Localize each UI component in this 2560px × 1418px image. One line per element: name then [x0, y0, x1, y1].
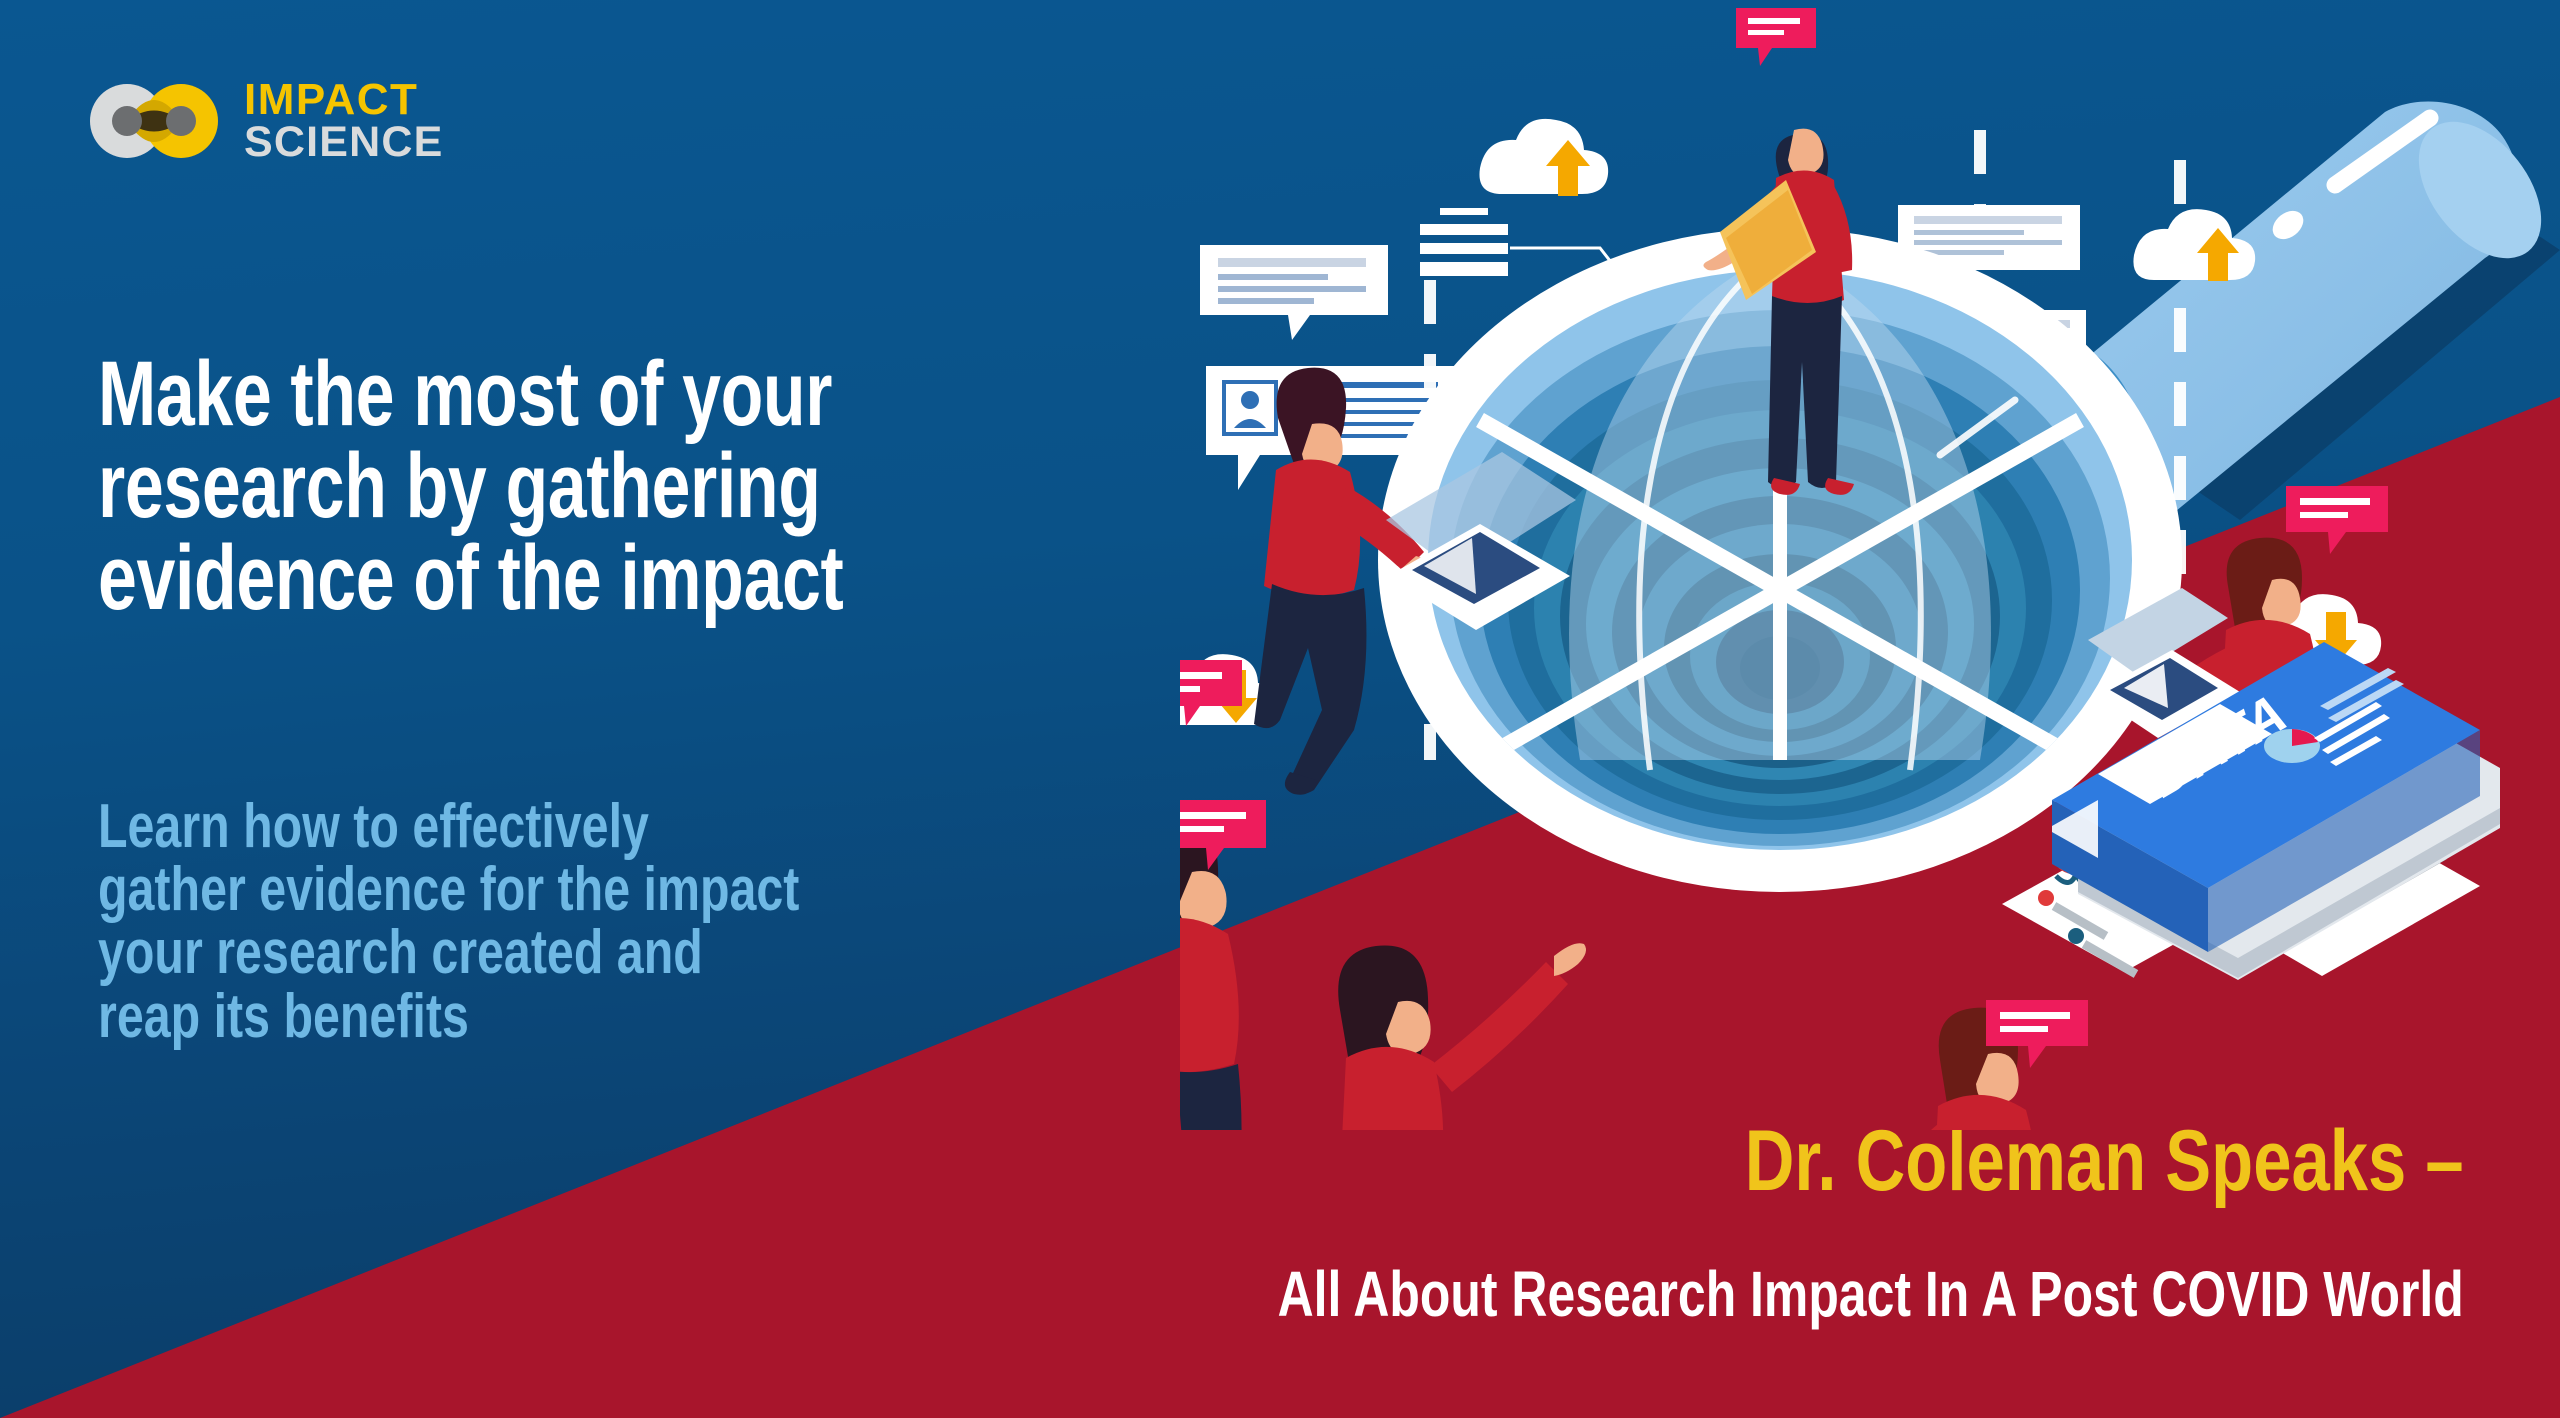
brand-logo[interactable]: IMPACT SCIENCE: [90, 75, 444, 167]
headline-line-1: Make the most of your: [98, 348, 904, 440]
subheadline-line-1: Learn how to effectively: [98, 795, 925, 858]
subheadline-line-4: reap its benefits: [98, 985, 925, 1048]
headline-line-3: evidence of the impact: [98, 532, 904, 624]
speaker-title: Dr. Coleman Speaks –: [1745, 1118, 2464, 1204]
brand-wordmark: IMPACT SCIENCE: [244, 78, 444, 163]
hero-illustration: DATA: [1180, 0, 2560, 1130]
speech-bubble-icon: [1200, 245, 1388, 340]
brand-name-impact: IMPACT: [244, 78, 444, 121]
cloud-upload-icon: [2133, 209, 2255, 281]
person-pointing-icon: [1338, 943, 1586, 1130]
infinity-loop-icon: [90, 75, 218, 167]
speech-bubble-icon: [2286, 486, 2388, 554]
subheadline-line-2: gather evidence for the impact: [98, 858, 925, 921]
brand-name-science: SCIENCE: [244, 121, 444, 163]
promo-banner: IMPACT SCIENCE Make the most of your res…: [0, 0, 2560, 1418]
subheadline: Learn how to effectively gather evidence…: [98, 795, 925, 1048]
headline: Make the most of your research by gather…: [98, 348, 904, 624]
talk-topic-title: All About Research Impact In A Post COVI…: [1278, 1262, 2464, 1326]
cloud-upload-icon: [1479, 119, 1608, 196]
headline-line-2: research by gathering: [98, 440, 904, 532]
subheadline-line-3: your research created and: [98, 921, 925, 984]
